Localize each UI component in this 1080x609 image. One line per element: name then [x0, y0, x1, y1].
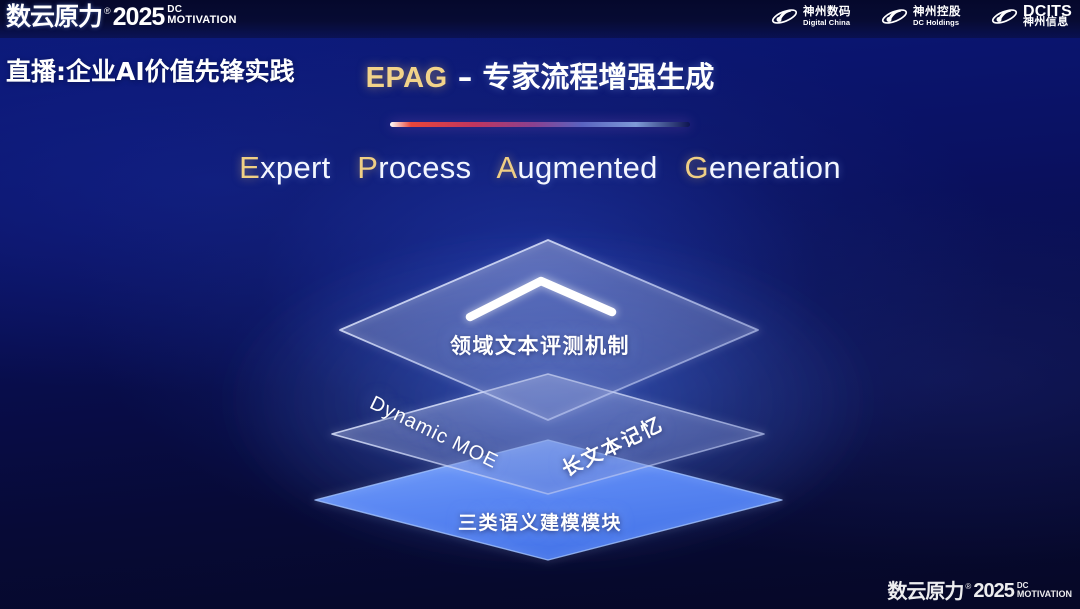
swirl-icon	[771, 4, 798, 29]
logo-en: DCITS	[1023, 6, 1072, 17]
logo-en: Digital China	[803, 17, 851, 28]
page-subtitle: Expert Process Augmented Generation	[0, 150, 1080, 186]
logo-text-digital-china: 神州数码 Digital China	[803, 6, 851, 28]
watermark-year: 2025	[973, 580, 1014, 603]
subtitle-word-augmented: Augmented	[496, 150, 657, 185]
subtitle-rest: ugmented	[517, 150, 657, 185]
diagram-layer-middle	[332, 374, 764, 494]
title-acronym: EPAG	[366, 62, 448, 94]
logo-cn: 神州信息	[1023, 17, 1072, 28]
logo-cn: 神州数码	[803, 6, 851, 17]
logo-en: DC Holdings	[913, 17, 961, 28]
subtitle-rest: eneration	[709, 150, 841, 185]
subtitle-word-process: Process	[357, 150, 471, 185]
slide-canvas: 数云原力 ® 2025 DC MOTIVATION 直播:企业AI价值先锋实践 …	[0, 0, 1080, 609]
subtitle-initial: P	[357, 150, 378, 185]
logo-digital-china: 神州数码 Digital China	[771, 4, 851, 29]
logo-dc-holdings: 神州控股 DC Holdings	[881, 4, 961, 29]
brand-year: 2025	[113, 3, 165, 31]
subtitle-rest: rocess	[378, 150, 471, 185]
subtitle-space	[339, 150, 348, 185]
layer-label-middle-left: Dynamic MOE	[366, 392, 502, 474]
registered-mark: ®	[104, 5, 111, 17]
subtitle-rest: xpert	[260, 150, 330, 185]
watermark-motivation: MOTIVATION	[1017, 590, 1072, 598]
brand-motivation: MOTIVATION	[167, 15, 236, 25]
subtitle-space	[480, 150, 489, 185]
swirl-icon	[881, 4, 908, 29]
brand-dc-motivation: DC MOTIVATION	[167, 5, 236, 25]
layer-label-bottom: 三类语义建模模块	[0, 508, 1080, 535]
title-dash: –	[448, 60, 483, 94]
logo-text-dc-holdings: 神州控股 DC Holdings	[913, 6, 961, 28]
diagram-layer-bottom	[315, 440, 782, 560]
partner-logos: 神州数码 Digital China 神州控股 DC Holdings	[771, 4, 1072, 29]
brand-name-cn: 数云原力	[6, 3, 102, 31]
footer-watermark: 数云原力 ® 2025 DC MOTIVATION	[887, 580, 1072, 603]
logo-cn: 神州控股	[913, 6, 961, 17]
brand-logo: 数云原力 ® 2025 DC MOTIVATION	[6, 3, 237, 31]
subtitle-initial: E	[239, 150, 260, 185]
logo-text-dcits: DCITS 神州信息	[1023, 6, 1072, 28]
subtitle-initial: A	[496, 150, 517, 185]
subtitle-word-generation: Generation	[684, 150, 840, 185]
swirl-icon	[991, 4, 1018, 29]
watermark-registered-mark: ®	[965, 582, 971, 592]
subtitle-initial: G	[684, 150, 708, 185]
watermark-dc-motivation: DC MOTIVATION	[1017, 582, 1072, 598]
logo-dcits: DCITS 神州信息	[991, 4, 1072, 29]
watermark-name-cn: 数云原力	[887, 580, 963, 603]
subtitle-word-expert: Expert	[239, 150, 330, 185]
layer-label-middle-right: 长文本记忆	[556, 408, 668, 482]
chevron-up-icon	[470, 281, 612, 317]
page-title: EPAG – 专家流程增强生成	[0, 54, 1080, 96]
layer-label-top: 领域文本评测机制	[0, 330, 1080, 360]
title-chinese: 专家流程增强生成	[482, 60, 714, 94]
title-divider	[390, 122, 690, 127]
subtitle-space	[667, 150, 676, 185]
